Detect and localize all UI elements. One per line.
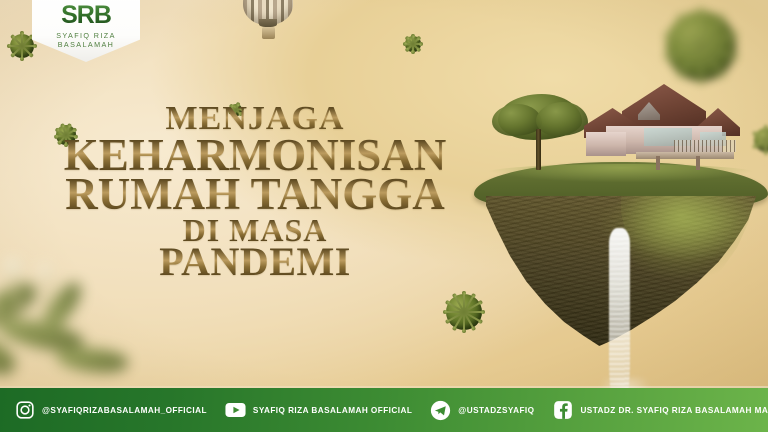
instagram-icon [14,400,35,421]
social-item-instagram[interactable]: @SYAFIQRIZABASALAMAH_OFFICIAL [14,400,207,421]
logo-monogram: SRB [61,3,111,28]
social-label-facebook: USTADZ DR. SYAFIQ RIZA BASALAMAH MA. [580,406,768,415]
poster-title: MENJAGA KEHARMONISAN RUMAH TANGGA DI MAS… [20,102,490,282]
facebook-icon [552,400,573,421]
social-item-youtube[interactable]: SYAFIQ RIZA BASALAMAH OFFICIAL [225,400,412,421]
social-footer-bar: @SYAFIQRIZABASALAMAH_OFFICIAL SYAFIQ RIZ… [0,388,768,432]
social-label-youtube: SYAFIQ RIZA BASALAMAH OFFICIAL [253,406,412,415]
poster-canvas: SRB SYAFIQ RIZA BASALAMAH MENJAGA KEHARM… [0,0,768,432]
social-item-facebook[interactable]: USTADZ DR. SYAFIQ RIZA BASALAMAH MA. [552,400,768,421]
telegram-icon [430,400,451,421]
social-item-telegram[interactable]: @USTADZSYAFIQ [430,400,534,421]
title-line-3: RUMAH TANGGA [20,172,490,217]
youtube-icon [225,400,246,421]
social-label-instagram: @SYAFIQRIZABASALAMAH_OFFICIAL [42,406,207,415]
title-line-5: PANDEMI [20,242,490,282]
social-label-telegram: @USTADZSYAFIQ [458,406,534,415]
logo-line-1: SYAFIQ RIZA [56,31,116,40]
logo-line-2: BASALAMAH [58,40,115,49]
